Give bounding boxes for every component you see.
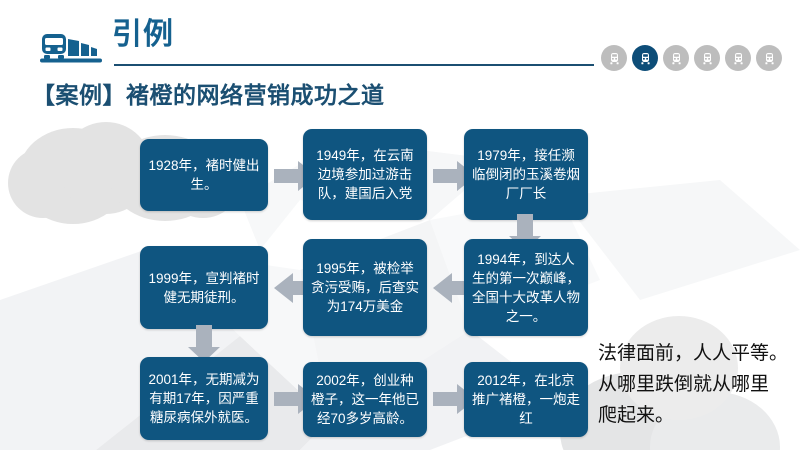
progress-dot-2-active[interactable] (632, 45, 658, 71)
quote-line-1: 法律面前，人人平等。 (598, 338, 798, 369)
flow-box-1928-text: 1928年，褚时健出生。 (147, 156, 261, 194)
cloud-shape (60, 122, 152, 214)
flow-box-2001[interactable]: 2001年，无期减为有期17年，因严重糖尿病保外就医。 (140, 357, 268, 440)
quote-note: 法律面前，人人平等。 从哪里跌倒就从哪里 爬起来。 (598, 338, 798, 431)
flow-box-1949[interactable]: 1949年，在云南边境参加过游击队，建国后入党 (303, 129, 427, 220)
flow-box-2012[interactable]: 2012年，在北京推广褚橙，一炮走红 (464, 362, 588, 437)
flow-box-1999-text: 1999年，宣判褚时健无期徒刑。 (147, 269, 261, 307)
title-underline (114, 64, 594, 66)
slide: 引例 【案例】褚橙的网络营销成功之道 1928年，褚时健出 (0, 0, 800, 450)
slide-header: 引例 (0, 0, 800, 86)
flow-box-1999[interactable]: 1999年，宣判褚时健无期徒刑。 (140, 246, 268, 329)
flow-box-1994[interactable]: 1994年，到达人生的第一次巅峰，全国十大改革人物之一。 (464, 239, 588, 336)
flow-box-1949-text: 1949年，在云南边境参加过游击队，建国后入党 (310, 146, 420, 203)
progress-dot-3[interactable] (663, 45, 689, 71)
slide-progress-dots[interactable] (601, 45, 782, 71)
flow-box-1995-text: 1995年，被检举贪污受贿，后查实为174万美金 (310, 259, 420, 316)
slide-subtitle: 【案例】褚橙的网络营销成功之道 (32, 76, 385, 110)
flow-box-2002[interactable]: 2002年，创业种橙子，这一年他已经70多岁高龄。 (303, 362, 427, 437)
flow-box-1979-text: 1979年，接任濒临倒闭的玉溪卷烟厂厂长 (471, 146, 581, 203)
progress-dot-1[interactable] (601, 45, 627, 71)
flow-box-1995[interactable]: 1995年，被检举贪污受贿，后查实为174万美金 (303, 239, 427, 336)
flow-box-1994-text: 1994年，到达人生的第一次巅峰，全国十大改革人物之一。 (471, 250, 581, 326)
flow-box-2001-text: 2001年，无期减为有期17年，因严重糖尿病保外就医。 (147, 370, 261, 427)
flow-box-2002-text: 2002年，创业种橙子，这一年他已经70多岁高龄。 (310, 371, 420, 428)
progress-dot-5[interactable] (725, 45, 751, 71)
flow-box-2012-text: 2012年，在北京推广褚橙，一炮走红 (471, 371, 581, 428)
flow-box-1979[interactable]: 1979年，接任濒临倒闭的玉溪卷烟厂厂长 (464, 129, 588, 220)
progress-dot-6[interactable] (756, 45, 782, 71)
quote-line-2: 从哪里跌倒就从哪里 (598, 369, 798, 400)
page-title: 引例 (112, 17, 174, 53)
train-icon (40, 28, 102, 68)
cloud-shape (18, 128, 128, 224)
quote-line-3: 爬起来。 (598, 400, 798, 431)
flow-box-1928[interactable]: 1928年，褚时健出生。 (140, 139, 268, 211)
progress-dot-4[interactable] (694, 45, 720, 71)
cloud-shape (8, 148, 78, 218)
